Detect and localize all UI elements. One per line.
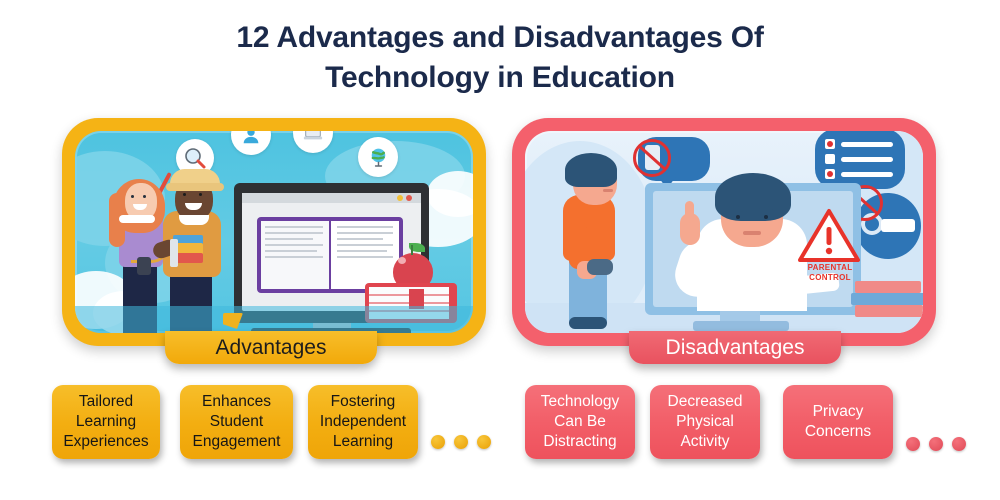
- boy-hat-brim: [166, 183, 224, 191]
- checkbox-mark: [827, 141, 833, 147]
- book-text-line: [337, 238, 383, 240]
- boy-mouth: [603, 189, 613, 192]
- disadvantage-card-3[interactable]: Privacy Concerns: [783, 385, 893, 459]
- advantages-illustration: [75, 131, 473, 333]
- book-spines: [170, 239, 178, 267]
- infographic-canvas: 12 Advantages and Disadvantages Of Techn…: [0, 0, 1000, 500]
- book-text-line: [265, 226, 323, 228]
- book-text-line: [265, 238, 313, 240]
- book-stack-item: [855, 305, 923, 317]
- page-title: 12 Advantages and Disadvantages Of Techn…: [0, 18, 1000, 97]
- apple-highlight: [398, 257, 406, 264]
- boy-hair: [565, 153, 617, 187]
- pointing-finger: [685, 201, 694, 223]
- disadvantages-label[interactable]: Disadvantages: [629, 331, 841, 364]
- parent-mouth: [743, 231, 761, 235]
- checklist-line: [841, 172, 893, 177]
- book-text-line: [265, 250, 317, 252]
- monitor-base: [693, 321, 789, 331]
- globe-icon: [358, 137, 398, 177]
- dot: [952, 437, 966, 451]
- boy-eye: [183, 193, 186, 196]
- dot: [454, 435, 468, 449]
- advantage-card-2-line-3: Engagement: [193, 432, 281, 452]
- parent-eye: [764, 215, 768, 219]
- girl-eye: [131, 195, 134, 198]
- parent-hair: [715, 173, 791, 221]
- checkbox-mark: [827, 171, 833, 177]
- checklist-line: [841, 142, 893, 147]
- advantage-card-3[interactable]: Fostering Independent Learning: [308, 385, 418, 459]
- advantage-card-2-line-2: Student: [193, 412, 281, 432]
- game-controller: [587, 259, 613, 275]
- girl-collar: [119, 215, 155, 223]
- boy-collar: [179, 215, 209, 225]
- avatar-icon: [231, 131, 271, 155]
- disadvantage-card-2-line-2: Physical: [668, 412, 743, 432]
- parental-control-label: PARENTAL CONTROL: [793, 263, 867, 283]
- dot: [929, 437, 943, 451]
- disadvantage-card-1[interactable]: Technology Can Be Distracting: [525, 385, 635, 459]
- book-text-line: [265, 244, 323, 246]
- advantages-more-dots[interactable]: [431, 435, 491, 449]
- advantage-card-3-line-2: Independent: [320, 412, 406, 432]
- warning-triangle-icon: [797, 207, 861, 265]
- apple-stem: [411, 245, 413, 255]
- browser-bar: [242, 193, 421, 203]
- advantage-card-1[interactable]: Tailored Learning Experiences: [52, 385, 160, 459]
- advantages-label[interactable]: Advantages: [165, 331, 377, 364]
- page-title-line-1: 12 Advantages and Disadvantages Of: [0, 18, 1000, 58]
- disadvantage-card-3-line-2: Concerns: [805, 422, 871, 442]
- checklist-line: [841, 157, 893, 162]
- scene-floor: [75, 306, 473, 333]
- book-text-line: [337, 232, 393, 234]
- boy-eye: [199, 193, 202, 196]
- disadvantage-card-1-line-2: Can Be: [541, 412, 619, 432]
- advantage-card-1-line-1: Tailored: [63, 392, 148, 412]
- disadvantage-card-2-line-3: Activity: [668, 432, 743, 452]
- disadvantages-illustration: PARENTAL CONTROL: [525, 131, 923, 333]
- dot: [431, 435, 445, 449]
- girl-eye: [143, 195, 146, 198]
- dot: [906, 437, 920, 451]
- book-stack-item: [851, 293, 923, 305]
- boy-shoe: [569, 317, 607, 329]
- book-text-line: [337, 226, 393, 228]
- disadvantages-panel[interactable]: PARENTAL CONTROL: [512, 118, 936, 346]
- disadvantages-more-dots[interactable]: [906, 437, 966, 451]
- book-stack-item: [855, 281, 921, 293]
- advantage-card-1-line-2: Learning: [63, 412, 148, 432]
- book-text-line: [337, 250, 387, 252]
- book-text-line: [265, 256, 323, 258]
- disadvantage-card-2-line-1: Decreased: [668, 392, 743, 412]
- advantage-card-2-line-1: Enhances: [193, 392, 281, 412]
- advantage-card-2[interactable]: Enhances Student Engagement: [180, 385, 293, 459]
- parental-control-line-1: PARENTAL: [793, 263, 867, 273]
- dot: [477, 435, 491, 449]
- parent-eye: [736, 215, 740, 219]
- advantage-card-3-line-1: Fostering: [320, 392, 406, 412]
- checkbox: [825, 154, 835, 164]
- book-text-line: [337, 256, 393, 258]
- laptop-icon: [293, 131, 333, 153]
- page-title-line-2: Technology in Education: [0, 58, 1000, 98]
- advantage-card-1-line-3: Experiences: [63, 432, 148, 452]
- advantages-panel[interactable]: [62, 118, 486, 346]
- disadvantage-card-1-line-1: Technology: [541, 392, 619, 412]
- boy-eye: [605, 179, 609, 183]
- browser-dot: [406, 195, 412, 201]
- smartphone: [137, 257, 151, 275]
- book-text-line: [265, 232, 323, 234]
- disadvantage-card-1-line-3: Distracting: [541, 432, 619, 452]
- disadvantage-card-2[interactable]: Decreased Physical Activity: [650, 385, 760, 459]
- browser-dot: [397, 195, 403, 201]
- advantage-card-3-line-3: Learning: [320, 432, 406, 452]
- disadvantage-card-3-line-1: Privacy: [805, 402, 871, 422]
- book-text-line: [337, 244, 393, 246]
- search-field-glyph: [881, 219, 915, 232]
